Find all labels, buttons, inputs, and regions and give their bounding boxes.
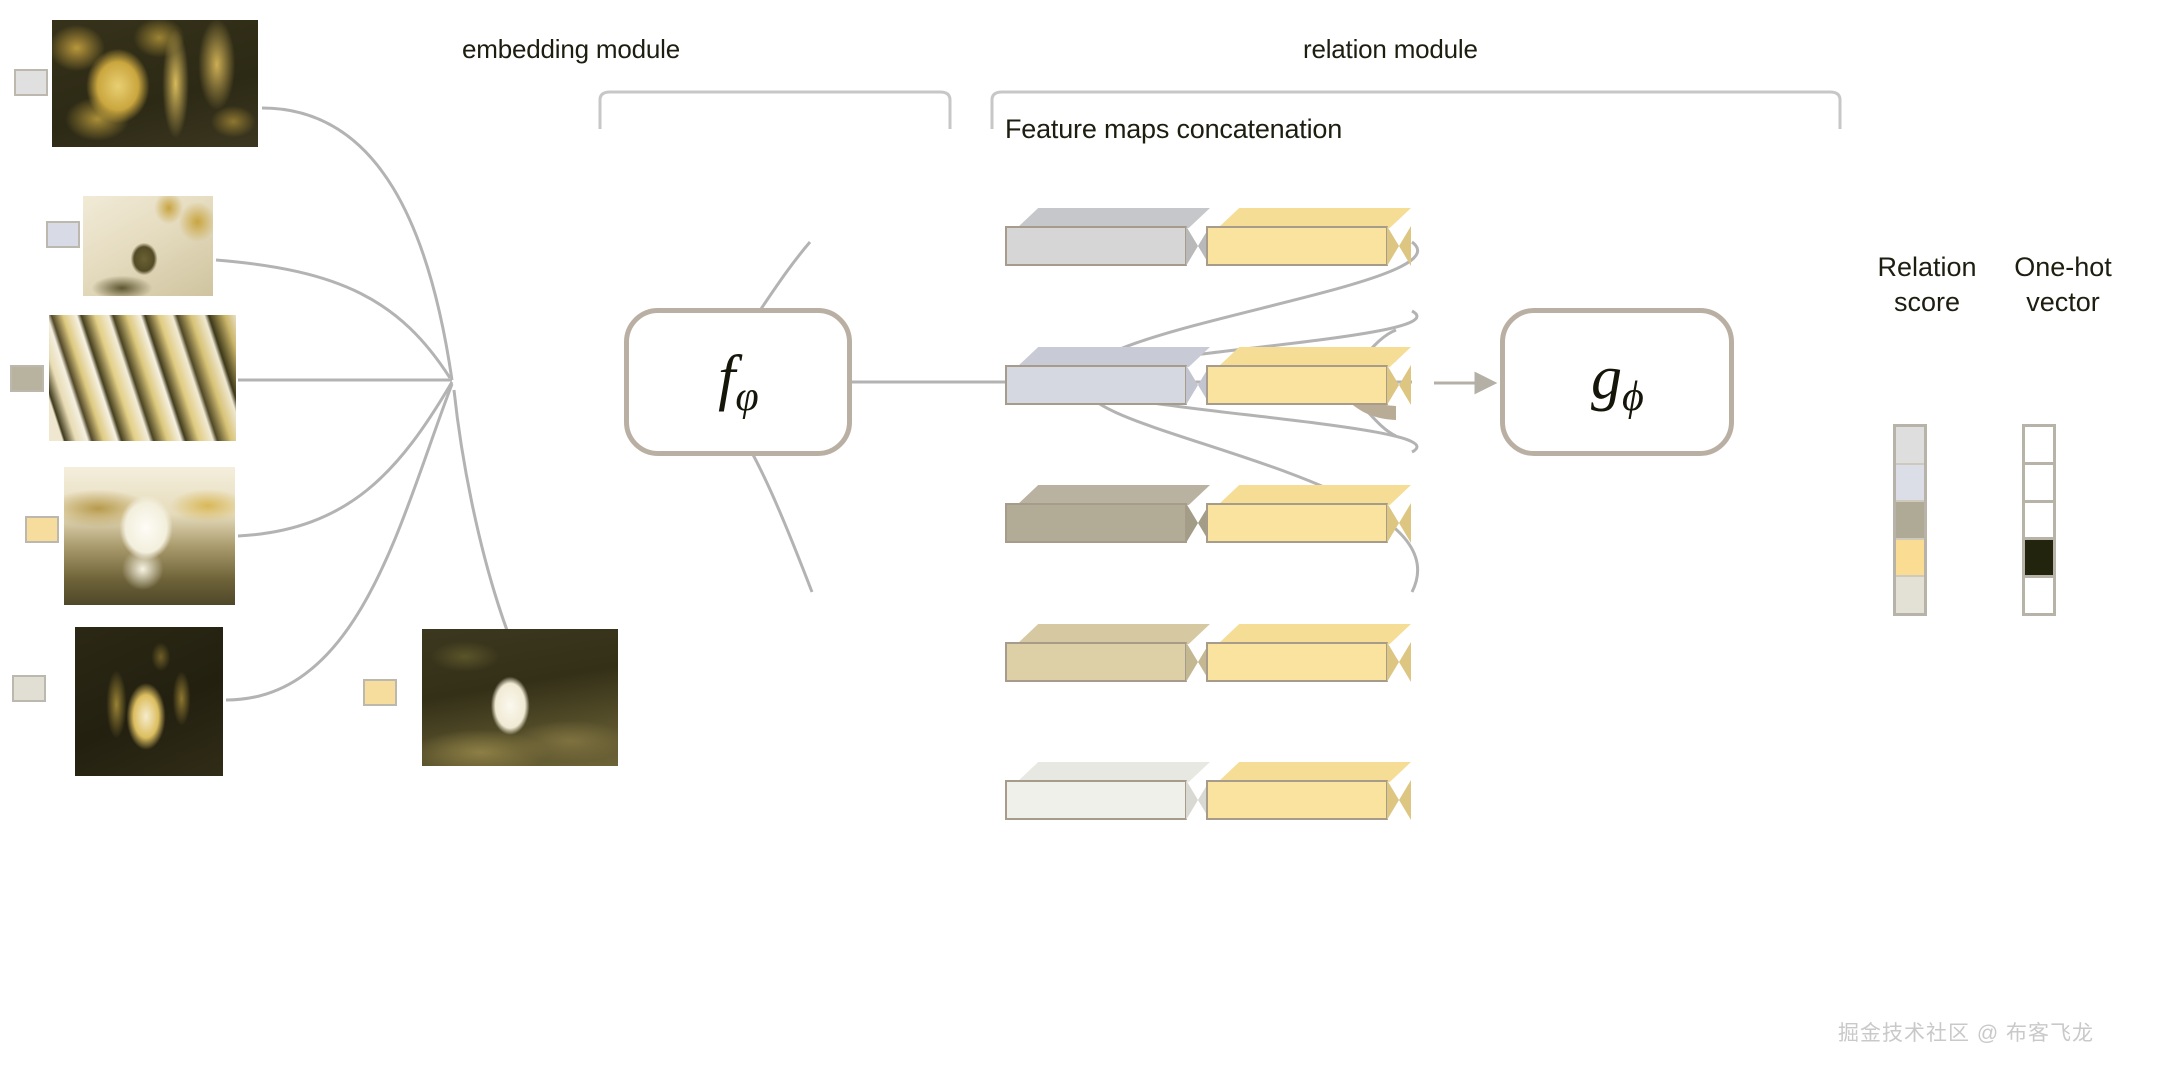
relation-score-cell — [1896, 575, 1924, 613]
one-hot-cell — [2025, 427, 2053, 462]
swatch-query-maltese — [363, 679, 397, 706]
feature-map-support-1 — [1005, 208, 1210, 266]
watermark: 掘金技术社区 @ 布客飞龙 — [1838, 1017, 2094, 1047]
swatch-support-corn — [14, 69, 48, 96]
relation-score-vector — [1893, 424, 1927, 616]
embedding-module-box[interactable]: fφ — [624, 308, 852, 456]
feature-map-query-3 — [1206, 485, 1411, 543]
relation-module-box[interactable]: gϕ — [1500, 308, 1734, 456]
feature-map-query-2 — [1206, 347, 1411, 405]
feature-map-support-4 — [1005, 624, 1210, 682]
image-query-maltese — [422, 629, 618, 766]
one-hot-vector — [2022, 424, 2056, 616]
swatch-support-lab — [25, 516, 59, 543]
relation-score-cell — [1896, 427, 1924, 463]
one-hot-cell — [2025, 500, 2053, 538]
header-embedding-module: embedding module — [462, 34, 680, 65]
image-support-sandwich — [49, 315, 236, 441]
feature-map-query-5 — [1206, 762, 1411, 820]
relation-score-cell — [1896, 500, 1924, 538]
swatch-support-fish — [12, 675, 46, 702]
feature-map-support-3 — [1005, 485, 1210, 543]
one-hot-cell — [2025, 575, 2053, 613]
image-support-fish — [75, 627, 223, 776]
feature-map-support-5 — [1005, 762, 1210, 820]
embedding-fn-symbol: fφ — [718, 347, 758, 418]
figure-canvas: embedding module relation module Feature… — [0, 0, 2159, 1083]
feature-map-query-4 — [1206, 624, 1411, 682]
one-hot-cell-active — [2025, 537, 2053, 575]
feature-map-support-2 — [1005, 347, 1210, 405]
label-feature-maps-concatenation: Feature maps concatenation — [1005, 114, 1342, 145]
feature-map-query-1 — [1206, 208, 1411, 266]
label-one-hot-vector: One-hot vector — [2008, 250, 2118, 319]
brace-embedding-module — [600, 92, 950, 129]
one-hot-cell — [2025, 462, 2053, 500]
image-support-corn — [52, 20, 258, 147]
image-support-lab — [64, 467, 235, 605]
image-support-bird — [83, 196, 213, 296]
swatch-support-bird — [46, 221, 80, 248]
header-relation-module: relation module — [1303, 34, 1478, 65]
label-relation-score: Relation score — [1872, 250, 1982, 319]
relation-score-cell — [1896, 538, 1924, 576]
swatch-support-sandwich — [10, 365, 44, 392]
arrow-score-to-onehot — [1434, 374, 1494, 392]
relation-fn-symbol: gϕ — [1591, 347, 1643, 418]
relation-score-cell — [1896, 463, 1924, 501]
